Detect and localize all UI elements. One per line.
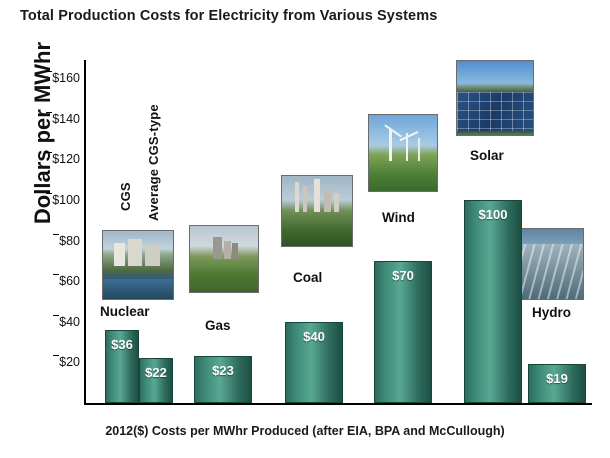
y-tick-40: $40: [59, 315, 80, 329]
plot-area: $20 $40 $60 $80 $100 $120 $140 $160 CGS …: [84, 60, 592, 405]
bar-solar: $100: [464, 200, 522, 403]
category-label-coal: Coal: [293, 270, 322, 285]
bar-hydro: $19: [528, 364, 586, 403]
y-tick-20: $20: [59, 355, 80, 369]
bar-value-solar: $100: [465, 207, 521, 222]
category-label-nuclear: Nuclear: [100, 304, 150, 319]
bar-gas: $23: [194, 356, 252, 403]
wind-turbines-photo: [368, 114, 438, 192]
annotation-cgs: CGS: [118, 106, 133, 211]
y-tick-60: $60: [59, 274, 80, 288]
coal-plant-photo: [281, 175, 353, 247]
category-label-wind: Wind: [382, 210, 415, 225]
bar-value-wind: $70: [375, 268, 431, 283]
x-axis-label: 2012($) Costs per MWhr Produced (after E…: [0, 424, 610, 438]
chart-title: Total Production Costs for Electricity f…: [20, 8, 600, 24]
y-tick-120: $120: [52, 152, 80, 166]
bar-nuclear-2: $22: [139, 358, 173, 403]
bar-value-hydro: $19: [529, 371, 585, 386]
bar-nuclear-1: $36: [105, 330, 139, 403]
bar-value-nuclear-2: $22: [140, 365, 172, 380]
category-label-hydro: Hydro: [532, 305, 571, 320]
bar-coal: $40: [285, 322, 343, 403]
category-label-solar: Solar: [470, 148, 504, 163]
bar-value-nuclear-1: $36: [106, 337, 138, 352]
hydro-dam-photo: [514, 228, 584, 300]
y-tick-140: $140: [52, 112, 80, 126]
y-tick-80: $80: [59, 234, 80, 248]
bar-wind: $70: [374, 261, 432, 403]
solar-panels-photo: [456, 60, 534, 136]
annotation-average-cgs-type: Average CGS-type: [146, 106, 161, 221]
y-tick-100: $100: [52, 193, 80, 207]
gas-plant-photo: [189, 225, 259, 293]
category-label-gas: Gas: [205, 318, 231, 333]
y-axis-label: Dollars per MWhr: [30, 18, 56, 248]
chart-figure: Total Production Costs for Electricity f…: [0, 0, 610, 458]
nuclear-plant-photo: [102, 230, 174, 300]
bar-value-gas: $23: [195, 363, 251, 378]
bar-value-coal: $40: [286, 329, 342, 344]
y-tick-160: $160: [52, 71, 80, 85]
